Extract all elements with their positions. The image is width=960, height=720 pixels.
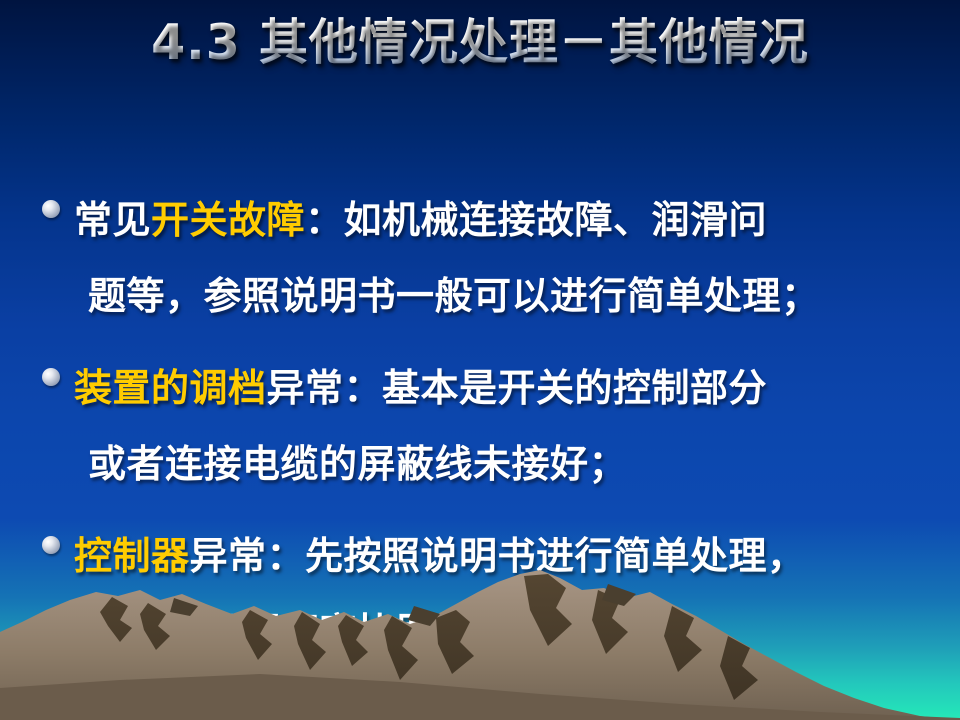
page-title: 4.3 其他情况处理－其他情况 bbox=[120, 14, 840, 72]
bullet-2-line2: 或者连接电缆的屏蔽线未接好； bbox=[74, 426, 932, 502]
bullet-3-highlight: 控制器 bbox=[74, 534, 190, 578]
sphere-bullet-icon bbox=[42, 200, 60, 218]
slide-title-block: 4.3 其他情况处理－其他情况 bbox=[120, 14, 840, 72]
bullet-text: 装置的调档异常：基本是开关的控制部分 或者连接电缆的屏蔽线未接好； bbox=[74, 350, 932, 502]
bullet-text: 常见开关故障：如机械连接故障、润滑问 题等，参照说明书一般可以进行简单处理； bbox=[74, 182, 932, 334]
bullet-2-rest: 异常：基本是开关的控制部分 bbox=[267, 366, 768, 410]
bullet-1-rest: ：如机械连接故障、润滑问 bbox=[305, 198, 767, 242]
sphere-bullet-icon bbox=[42, 536, 60, 554]
bullet-2-highlight: 装置的调档 bbox=[74, 366, 267, 410]
sphere-bullet-icon bbox=[42, 368, 60, 386]
bullet-1-lead: 常见 bbox=[74, 198, 151, 242]
slide-body: 常见开关故障：如机械连接故障、润滑问 题等，参照说明书一般可以进行简单处理； 装… bbox=[42, 182, 932, 686]
bullet-3-line2: 无法处理要厂家协助处理； bbox=[74, 594, 932, 670]
list-item: 装置的调档异常：基本是开关的控制部分 或者连接电缆的屏蔽线未接好； bbox=[42, 350, 932, 502]
presentation-slide: 4.3 其他情况处理－其他情况 常见开关故障：如机械连接故障、润滑问 题等，参照… bbox=[0, 0, 960, 720]
list-item: 常见开关故障：如机械连接故障、润滑问 题等，参照说明书一般可以进行简单处理； bbox=[42, 182, 932, 334]
bullet-3-rest: 异常：先按照说明书进行简单处理， bbox=[190, 534, 806, 578]
bullet-1-line2: 题等，参照说明书一般可以进行简单处理； bbox=[74, 258, 932, 334]
list-item: 控制器异常：先按照说明书进行简单处理， 无法处理要厂家协助处理； bbox=[42, 518, 932, 670]
bullet-text: 控制器异常：先按照说明书进行简单处理， 无法处理要厂家协助处理； bbox=[74, 518, 932, 670]
bullet-1-highlight: 开关故障 bbox=[151, 198, 305, 242]
